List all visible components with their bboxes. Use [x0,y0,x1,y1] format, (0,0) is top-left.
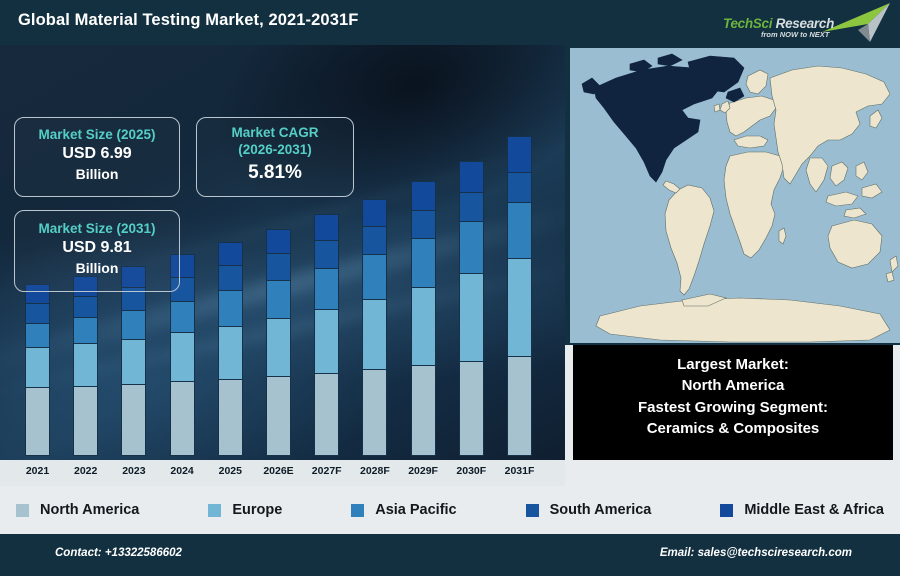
bar-segment-north-america [218,379,243,456]
bar-segment-south-america [314,240,339,267]
bar-segment-middle-east-africa [411,181,436,210]
stat-card-market-cagr: Market CAGR (2026-2031) 5.81% [196,117,354,197]
stat-card-market-size-2031: Market Size (2031) USD 9.81 Billion [14,210,180,292]
legend-swatch-icon [720,504,733,517]
stat-card-market-size-2025: Market Size (2025) USD 6.99 Billion [14,117,180,197]
stat-title: Market Size (2025) [15,127,179,144]
legend-swatch-icon [351,504,364,517]
bar-segment-europe [314,309,339,373]
bar-segment-asia-pacific [507,202,532,258]
stat-unit: Billion [15,259,179,277]
bar-segment-europe [507,258,532,356]
bar-segment-north-america [170,381,195,456]
world-map-icon [570,48,900,343]
bar-segment-middle-east-africa [362,199,387,226]
bar-segment-south-america [411,210,436,239]
bar-2027F [314,214,339,456]
bar-segment-asia-pacific [314,268,339,309]
bar-segment-europe [170,332,195,381]
legend-item-asia-pacific[interactable]: Asia Pacific [351,502,456,518]
legend-swatch-icon [526,504,539,517]
bar-segment-europe [411,287,436,365]
logo-techsci: TechSci [723,16,772,31]
bar-segment-europe [25,347,50,387]
logo-research: Research [772,16,834,31]
email-info: Email: sales@techsciresearch.com [660,547,852,559]
bar-2025 [218,242,243,456]
legend-label: Europe [232,502,282,518]
stat-value: USD 6.99 [15,144,179,165]
legend-label: North America [40,502,139,518]
contact-info: Contact: +13322586602 [55,547,182,559]
bar-2022 [73,276,98,456]
bar-2021 [25,284,50,456]
bar-segment-asia-pacific [121,310,146,339]
x-axis-label-2025: 2025 [207,465,254,477]
bar-segment-asia-pacific [218,290,243,325]
stat-value: USD 9.81 [15,238,179,259]
bar-segment-middle-east-africa [218,242,243,265]
bar-segment-south-america [459,192,484,221]
infographic-page: Global Material Testing Market, 2021-203… [0,0,900,576]
bar-segment-asia-pacific [362,254,387,299]
legend-item-south-america[interactable]: South America [526,502,652,518]
bar-segment-europe [459,273,484,360]
stat-subtitle: (2026-2031) [197,142,353,159]
bar-segment-asia-pacific [170,301,195,333]
x-axis-label-2028F: 2028F [351,465,398,477]
bar-segment-asia-pacific [411,238,436,287]
bar-segment-europe [218,326,243,379]
bar-segment-europe [362,299,387,369]
x-axis-label-2026E: 2026E [255,465,302,477]
legend-swatch-icon [208,504,221,517]
legend-swatch-icon [16,504,29,517]
bar-segment-south-america [25,303,50,323]
legend-label: South America [550,502,652,518]
bar-segment-north-america [266,376,291,456]
bar-2028F [362,199,387,456]
bar-segment-asia-pacific [25,323,50,347]
bar-segment-europe [121,339,146,384]
bar-segment-south-america [266,253,291,279]
bar-segment-south-america [218,265,243,290]
bar-2026E [266,229,291,456]
page-title: Global Material Testing Market, 2021-203… [18,11,358,30]
bar-segment-south-america [507,172,532,201]
legend-label: Middle East & Africa [744,502,884,518]
bar-segment-middle-east-africa [507,136,532,172]
bar-segment-south-america [362,226,387,254]
bar-segment-north-america [411,365,436,456]
bar-segment-north-america [362,369,387,456]
bar-segment-asia-pacific [266,280,291,318]
bar-segment-north-america [25,387,50,455]
x-axis-label-2022: 2022 [62,465,109,477]
bar-segment-asia-pacific [73,317,98,343]
techsci-research-logo: TechSci Research from NOW to NEXT [715,0,900,45]
x-axis-label-2030F: 2030F [448,465,495,477]
bar-segment-asia-pacific [459,221,484,274]
bar-segment-north-america [121,384,146,456]
logo-wordmark: TechSci Research [723,16,834,31]
bar-2030F [459,161,484,456]
bar-2031F [507,136,532,456]
bar-segment-middle-east-africa [459,161,484,192]
x-axis-label-2029F: 2029F [400,465,447,477]
x-axis-label-2024: 2024 [159,465,206,477]
stat-title: Market CAGR [197,125,353,142]
bar-segment-north-america [314,373,339,456]
chart-legend: North AmericaEuropeAsia PacificSouth Ame… [0,486,900,534]
bar-segment-north-america [73,386,98,456]
footer-bar: Contact: +13322586602 Email: sales@techs… [0,534,900,576]
x-axis-label-2023: 2023 [110,465,157,477]
largest-market-label: Largest Market: [573,354,893,375]
bar-segment-north-america [507,356,532,456]
logo-tagline: from NOW to NEXT [761,30,829,39]
bar-2029F [411,181,436,456]
bar-segment-north-america [459,361,484,456]
chart-panel: Market Size (2025) USD 6.99 Billion Mark… [0,45,565,460]
stat-value: 5.81% [197,161,353,186]
legend-item-europe[interactable]: Europe [208,502,282,518]
bar-segment-middle-east-africa [266,229,291,254]
bar-segment-middle-east-africa [314,214,339,240]
bar-segment-south-america [73,296,98,317]
bar-segment-europe [266,318,291,376]
fastest-segment-value: Ceramics & Composites [573,418,893,439]
bar-2023 [121,266,146,456]
header-bar: Global Material Testing Market, 2021-203… [0,0,900,45]
stat-title: Market Size (2031) [15,221,179,238]
legend-label: Asia Pacific [375,502,456,518]
x-axis-label-2031F: 2031F [496,465,543,477]
x-axis-label-2027F: 2027F [303,465,350,477]
x-axis: 202120222023202420252026E2027F2028F2029F… [0,460,565,486]
key-insights-box: Largest Market: North America Fastest Gr… [573,345,893,460]
stat-unit: Billion [15,165,179,183]
world-map-panel [565,45,900,345]
x-axis-label-2021: 2021 [14,465,61,477]
largest-market-value: North America [573,375,893,396]
bar-segment-europe [73,343,98,385]
fastest-segment-label: Fastest Growing Segment: [573,397,893,418]
legend-item-middle-east-africa[interactable]: Middle East & Africa [720,502,884,518]
legend-item-north-america[interactable]: North America [16,502,139,518]
